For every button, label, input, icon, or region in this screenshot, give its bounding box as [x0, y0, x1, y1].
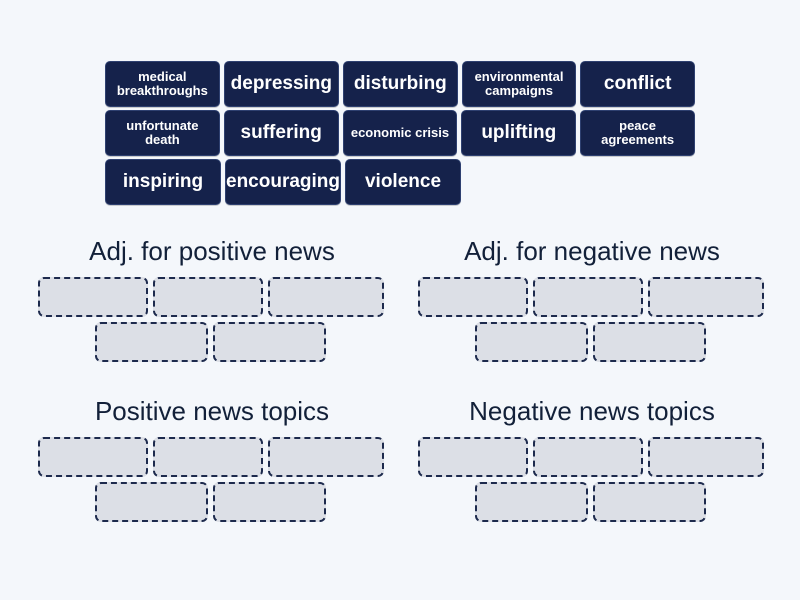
word-bank-row: unfortunate death suffering economic cri… [105, 110, 695, 156]
category-title: Positive news topics [22, 394, 402, 428]
drop-slot[interactable] [648, 277, 764, 317]
drop-slot[interactable] [153, 277, 263, 317]
drop-slot[interactable] [95, 482, 208, 522]
category-group-positive-adjectives: Adj. for positive news [22, 234, 402, 367]
word-tile[interactable]: depressing [224, 61, 339, 107]
drop-slot[interactable] [38, 437, 148, 477]
drop-slot[interactable] [475, 482, 588, 522]
drop-slot-row [402, 322, 782, 362]
word-tile[interactable]: unfortunate death [105, 110, 220, 156]
drop-slot-row [22, 437, 402, 477]
drop-slot[interactable] [475, 322, 588, 362]
drop-slot[interactable] [153, 437, 263, 477]
drop-slot-row [22, 277, 402, 317]
word-tile[interactable]: economic crisis [343, 110, 458, 156]
drop-slot[interactable] [533, 277, 643, 317]
word-bank-row: medical breakthroughs depressing disturb… [105, 61, 695, 107]
drop-slot[interactable] [268, 437, 384, 477]
drop-slot[interactable] [593, 322, 706, 362]
word-bank: medical breakthroughs depressing disturb… [105, 61, 695, 208]
category-group-negative-topics: Negative news topics [402, 394, 782, 527]
word-tile[interactable]: disturbing [343, 61, 458, 107]
drop-slot[interactable] [533, 437, 643, 477]
category-group-positive-topics: Positive news topics [22, 394, 402, 527]
drop-slot[interactable] [648, 437, 764, 477]
word-tile[interactable]: uplifting [461, 110, 576, 156]
drop-slot-row [402, 277, 782, 317]
word-tile[interactable]: peace agreements [580, 110, 695, 156]
drop-slot[interactable] [593, 482, 706, 522]
word-tile[interactable]: environmental campaigns [462, 61, 577, 107]
word-tile[interactable]: inspiring [105, 159, 221, 205]
drop-slot-row [402, 482, 782, 522]
word-tile[interactable]: conflict [580, 61, 695, 107]
word-tile[interactable]: violence [345, 159, 461, 205]
word-tile[interactable]: encouraging [225, 159, 341, 205]
drop-slot[interactable] [418, 437, 528, 477]
drop-slot[interactable] [95, 322, 208, 362]
word-tile[interactable]: suffering [224, 110, 339, 156]
drop-slot-row [402, 437, 782, 477]
category-title: Adj. for negative news [402, 234, 782, 268]
drop-slot-row [22, 322, 402, 362]
category-title: Adj. for positive news [22, 234, 402, 268]
drop-slot[interactable] [268, 277, 384, 317]
drop-slot-row [22, 482, 402, 522]
drop-slot[interactable] [213, 322, 326, 362]
category-title: Negative news topics [402, 394, 782, 428]
word-tile[interactable]: medical breakthroughs [105, 61, 220, 107]
drop-slot[interactable] [38, 277, 148, 317]
drop-slot[interactable] [213, 482, 326, 522]
drop-slot[interactable] [418, 277, 528, 317]
category-group-negative-adjectives: Adj. for negative news [402, 234, 782, 367]
word-bank-row: inspiring encouraging violence [105, 159, 695, 205]
